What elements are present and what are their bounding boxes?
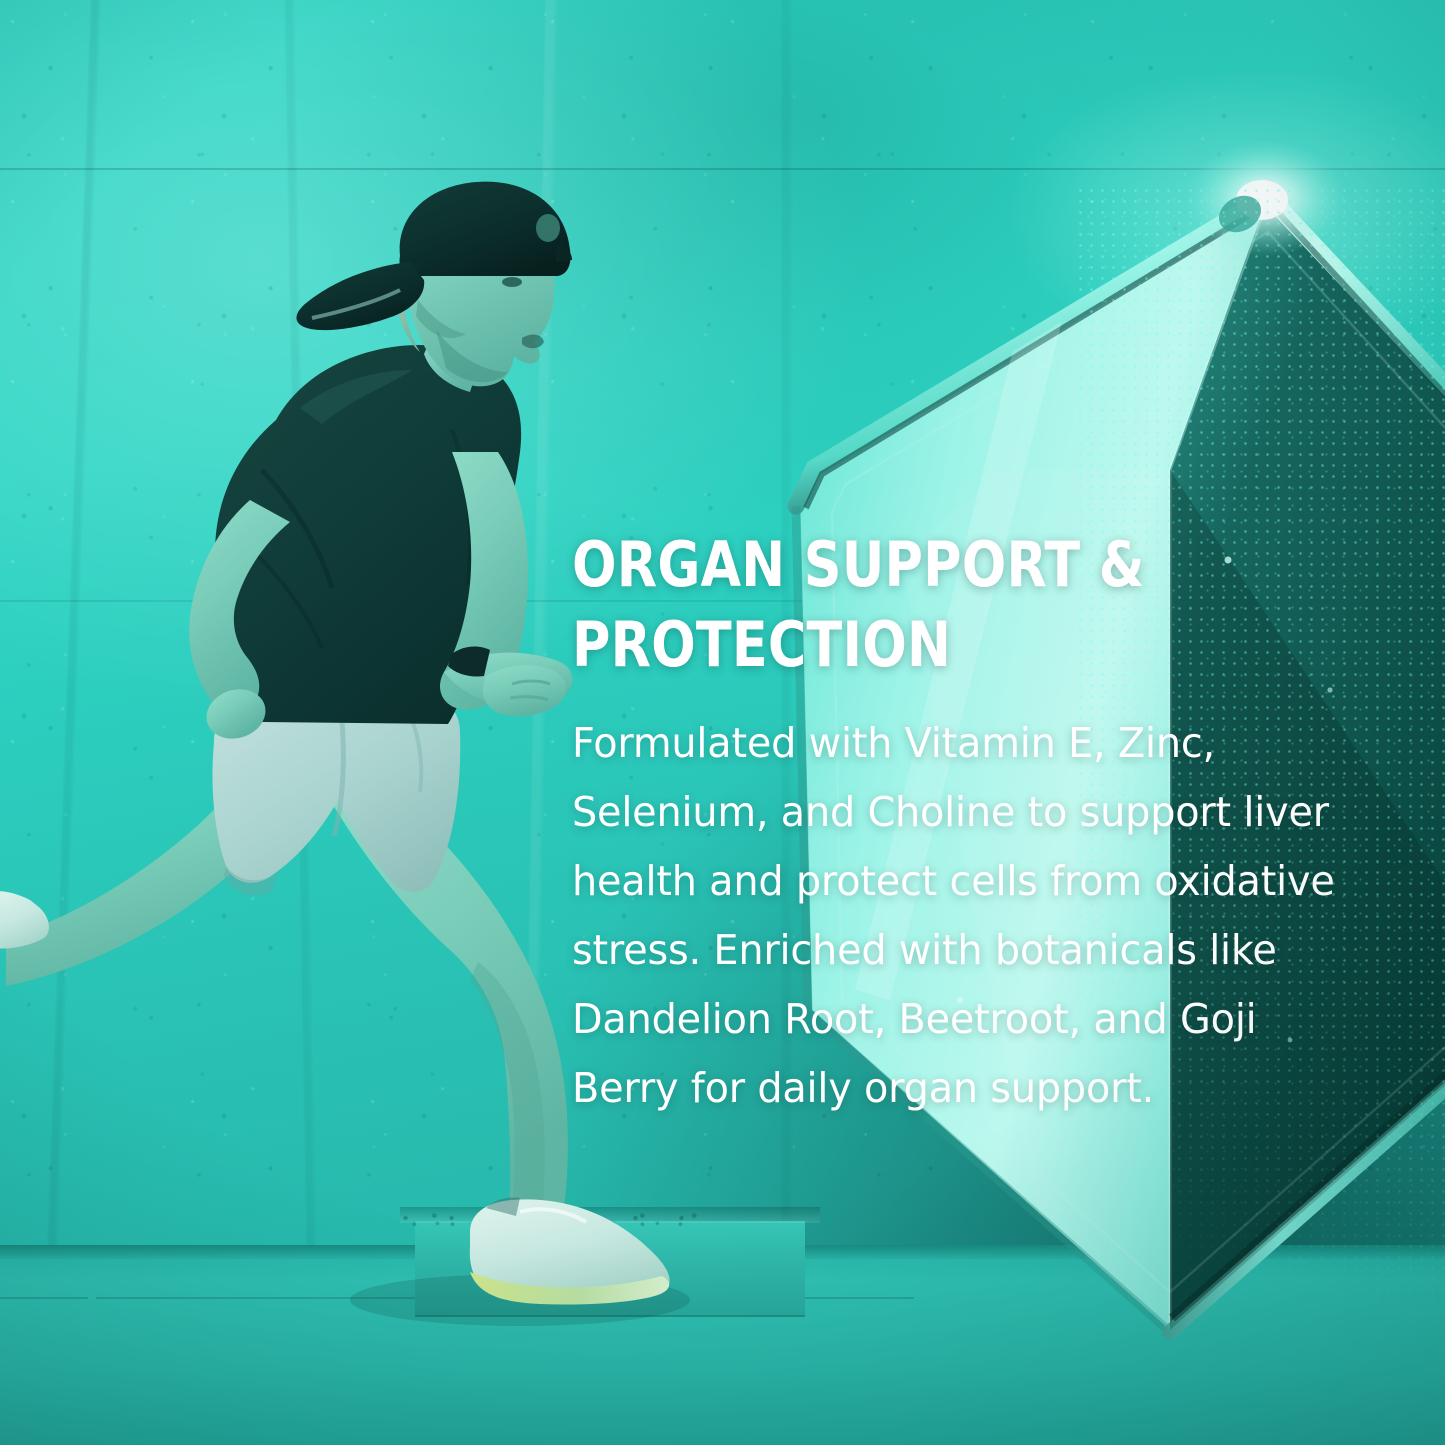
- runner-front-hand: [483, 665, 566, 716]
- runner-mouth: [522, 335, 544, 349]
- copy-block: ORGAN SUPPORT & PROTECTION Formulated wi…: [572, 525, 1372, 1123]
- runner-cap-logo: [536, 214, 560, 242]
- body-description: Formulated with Vitamin E, Zinc, Seleniu…: [572, 709, 1348, 1123]
- page-title: ORGAN SUPPORT & PROTECTION: [572, 525, 1324, 685]
- runner-eye: [502, 277, 522, 287]
- promo-banner: ORGAN SUPPORT & PROTECTION Formulated wi…: [0, 0, 1445, 1445]
